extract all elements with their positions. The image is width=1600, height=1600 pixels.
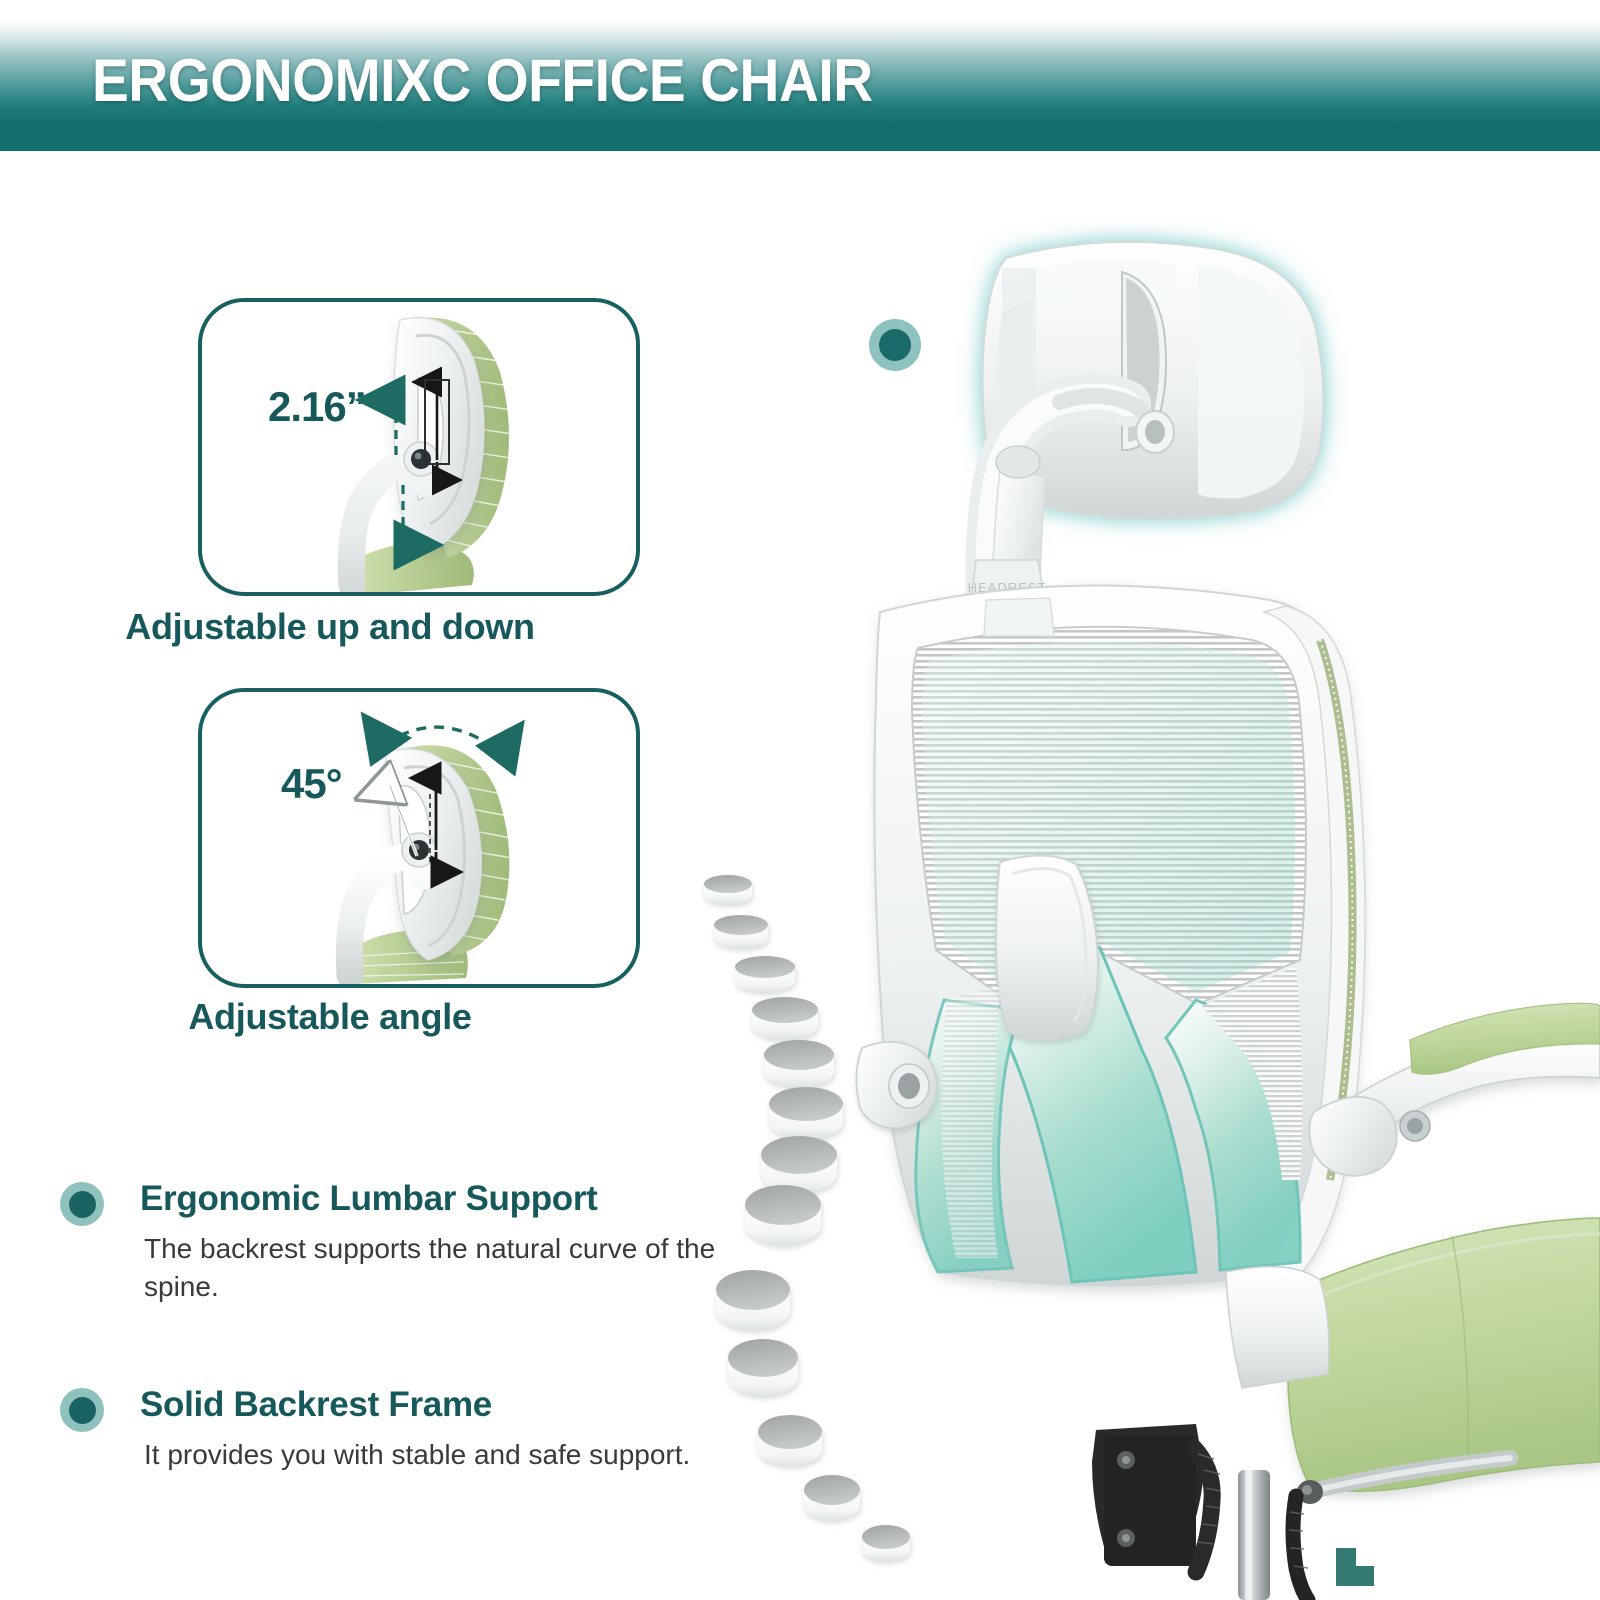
measurement-label-height: 2.16” bbox=[268, 383, 366, 431]
page-title: ERGONOMIXC OFFICE CHAIR bbox=[92, 50, 873, 112]
backrest-pivot-left bbox=[856, 1042, 936, 1128]
teal-dot-marker-icon bbox=[869, 319, 921, 371]
seat-cushion bbox=[1288, 1218, 1600, 1491]
mesh-backrest bbox=[874, 586, 1365, 1286]
headrest bbox=[982, 242, 1323, 519]
teal-ring-bullet-icon bbox=[60, 1182, 104, 1226]
card-caption-angle: Adjustable angle bbox=[10, 996, 650, 1038]
infographic-page: ERGONOMIXC OFFICE CHAIR 2.16” 45° Adjust… bbox=[0, 0, 1600, 1600]
headrest-support-arm: HEADREST bbox=[968, 396, 1174, 630]
feature-title-lumbar: Ergonomic Lumbar Support bbox=[140, 1178, 760, 1220]
card-caption-up-down: Adjustable up and down bbox=[10, 606, 650, 648]
armrest bbox=[1309, 1003, 1600, 1176]
feature-desc-frame: It provides you with stable and safe sup… bbox=[144, 1436, 724, 1474]
ergonomic-office-chair-photo: HEADREST bbox=[856, 242, 1600, 1600]
list-item: Ergonomic Lumbar Support The backrest su… bbox=[60, 1178, 760, 1306]
list-item: Solid Backrest Frame It provides you wit… bbox=[60, 1384, 760, 1474]
measurement-label-angle: 45° bbox=[281, 760, 342, 808]
teal-ring-bullet-icon bbox=[60, 1388, 104, 1432]
feature-desc-lumbar: The backrest supports the natural curve … bbox=[144, 1230, 724, 1306]
tilt-mechanism bbox=[1092, 1424, 1510, 1600]
feature-card-adjustable-up-down bbox=[198, 298, 640, 596]
feature-title-frame: Solid Backrest Frame bbox=[140, 1384, 760, 1426]
lumbar-support bbox=[996, 855, 1098, 1040]
svg-text:HEADREST: HEADREST bbox=[968, 580, 1047, 595]
feature-list: Ergonomic Lumbar Support The backrest su… bbox=[60, 1178, 760, 1496]
feature-card-adjustable-angle bbox=[198, 688, 640, 988]
